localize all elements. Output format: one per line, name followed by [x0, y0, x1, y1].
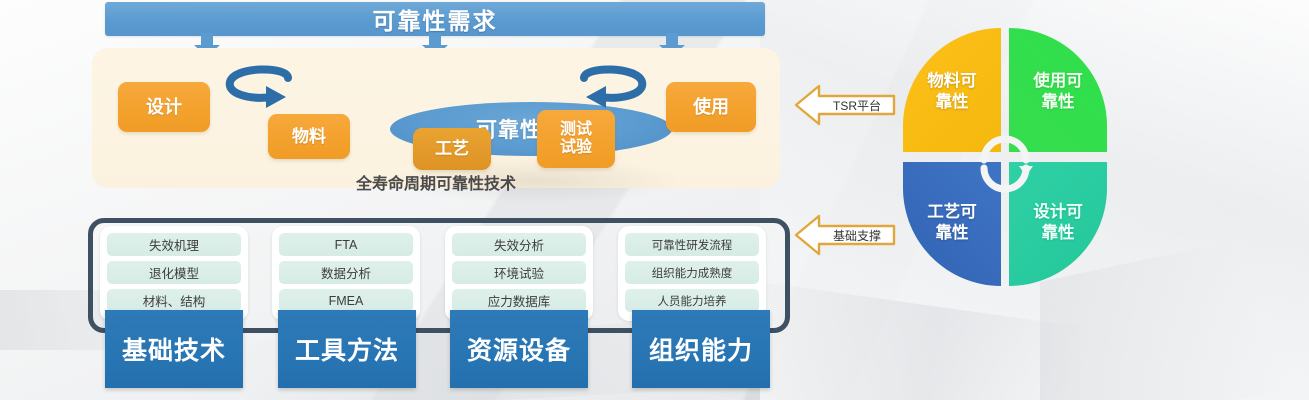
- foundation-item: FMEA: [279, 289, 413, 312]
- foundation-title-1-label: 基础技术: [122, 331, 226, 367]
- foundation-title-3[interactable]: 资源设备: [450, 310, 588, 388]
- foundation-title-2[interactable]: 工具方法: [278, 310, 416, 388]
- foundation-item: FTA: [279, 233, 413, 256]
- wheel-quadrant-material-label: 物料可 靠性: [903, 71, 1001, 112]
- foundation-item: 应力数据库: [452, 289, 586, 312]
- foundation-card-1: 失效机理 退化模型 材料、结构: [100, 226, 248, 321]
- wheel-quadrant-design-label: 设计可 靠性: [1009, 202, 1107, 243]
- banner-title: 可靠性需求: [373, 2, 498, 36]
- foundation-title-1[interactable]: 基础技术: [105, 310, 243, 388]
- foundation-item: 退化模型: [107, 261, 241, 284]
- callout-tsr-platform: TSR平台: [793, 82, 897, 128]
- foundation-item: 材料、结构: [107, 289, 241, 312]
- foundation-title-2-label: 工具方法: [295, 331, 399, 367]
- wheel-quadrant-process-label: 工艺可 靠性: [903, 202, 1001, 243]
- stage-use-label: 使用: [693, 97, 729, 117]
- foundation-item: 数据分析: [279, 261, 413, 284]
- lifecycle-panel: 可靠性物理 设计 物料 工艺: [92, 48, 780, 188]
- stage-test-label-line1: 测试: [560, 121, 592, 139]
- foundation-card-3: 失效分析 环境试验 应力数据库: [445, 226, 593, 321]
- stage-process[interactable]: 工艺: [413, 128, 491, 170]
- refresh-cycle-icon: [971, 130, 1039, 198]
- wheel-quadrant-use-label: 使用可 靠性: [1009, 71, 1107, 112]
- stage-design[interactable]: 设计: [118, 82, 210, 132]
- stage-material-label: 物料: [292, 127, 326, 146]
- requirements-banner: 可靠性需求: [105, 2, 765, 36]
- foundation-item: 失效分析: [452, 233, 586, 256]
- foundation-item: 环境试验: [452, 261, 586, 284]
- reliability-wheel: 物料可 靠性 使用可 靠性 工艺可 靠性 设计可 靠性: [903, 28, 1107, 286]
- stage-process-label: 工艺: [435, 139, 469, 158]
- foundation-card-4: 可靠性研发流程 组织能力成熟度 人员能力培养: [618, 226, 766, 321]
- stage-use[interactable]: 使用: [666, 82, 756, 132]
- callout-foundation-support: 基础支撑: [793, 212, 897, 258]
- foundation-item: 组织能力成熟度: [625, 261, 759, 284]
- stage-test[interactable]: 测试 试验: [537, 110, 615, 168]
- foundation-item: 失效机理: [107, 233, 241, 256]
- stage-material[interactable]: 物料: [268, 114, 350, 159]
- foundation-title-4[interactable]: 组织能力: [632, 310, 770, 388]
- loop-arrow-left: [220, 64, 296, 121]
- callout-foundation-support-label: 基础支撑: [820, 212, 894, 258]
- stage-design-label: 设计: [146, 97, 182, 117]
- foundation-item: 可靠性研发流程: [625, 233, 759, 256]
- callout-tsr-platform-label: TSR平台: [820, 82, 894, 128]
- foundation-title-4-label: 组织能力: [649, 331, 753, 367]
- diagram-canvas: 可靠性需求 可靠性物理: [0, 0, 1309, 400]
- foundation-item: 人员能力培养: [625, 289, 759, 312]
- stage-test-label-line2: 试验: [560, 139, 592, 157]
- lifecycle-caption: 全寿命周期可靠性技术: [92, 170, 780, 194]
- foundation-card-2: FTA 数据分析 FMEA: [272, 226, 420, 321]
- foundation-title-3-label: 资源设备: [467, 331, 571, 367]
